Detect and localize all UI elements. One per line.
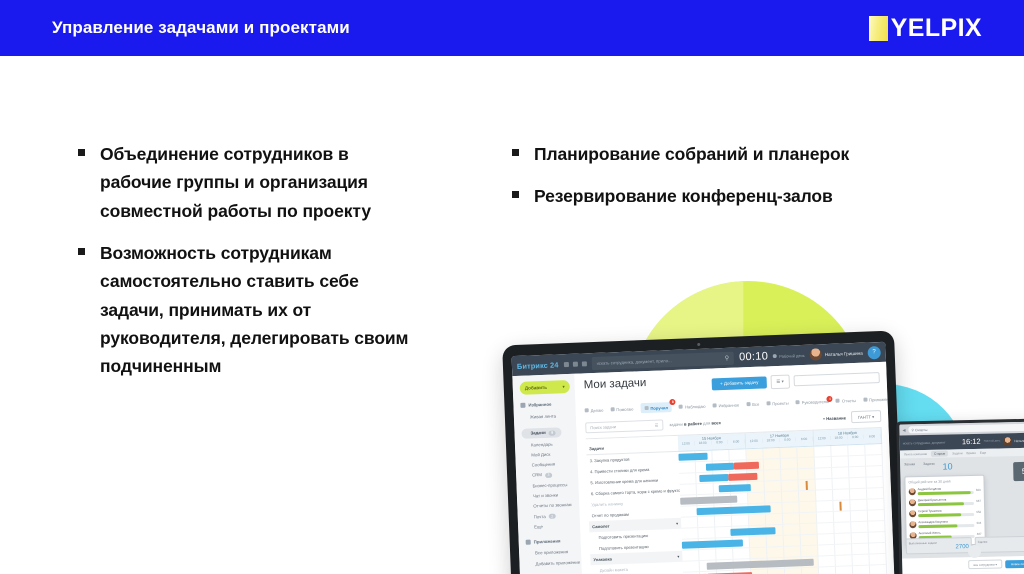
pause-icon[interactable] [773,354,777,358]
topbar-icons [563,361,586,367]
bullet-column-right: Планирование собраний и планерок Резерви… [512,140,932,225]
view-select-label: ГАНТТ [858,414,871,419]
global-search[interactable]: искать сотрудника, документ, прило... ⚲ [591,351,734,369]
rating-row-body: Александра Косухина [918,519,974,528]
pin-icon [520,403,525,408]
rating-bar [918,491,974,495]
tab-label: Наблюдаю [685,403,706,409]
gantt-bar[interactable] [678,453,707,461]
rating-value: 652 [976,510,981,514]
search-icon: ⚲ [911,428,914,432]
rating-row-body: Андрей Богданов [918,486,974,495]
tab-delayu[interactable]: Делаю [585,407,604,413]
rating-subtitle-text: за 30 дней [934,479,951,483]
rating-title-text: Общий рейтинг [908,480,932,485]
sidebar-item-label: Задачи [530,430,545,436]
tab-proekty[interactable]: Проекты [766,400,789,406]
tab-icon [610,407,614,411]
back-icon[interactable]: ◀ [902,427,905,432]
bitrix-logo[interactable]: Битрикс 24 [517,360,559,371]
webcam-icon [697,343,700,346]
gantt-bar[interactable] [680,496,737,505]
bullet-square-icon [78,149,85,156]
stat-big-value: 10 [942,461,952,471]
home-button-icon[interactable] [967,545,980,558]
address-bar-value: Смарты [915,427,928,431]
filter-icon: ☰ [655,422,659,427]
tab-label: Проекты [772,400,789,406]
avatar [810,348,822,360]
gantt-bar[interactable] [682,539,743,548]
list-item[interactable]: Андрей Богданов 820 [909,486,981,496]
tablet-mockup: ◀ ⚲ Смарты искать сотрудника, документ 1… [896,418,1024,574]
mail-icon[interactable] [563,361,568,366]
list-item: Объединение сотрудников в рабочие группы… [78,140,418,225]
address-bar[interactable]: ⚲ Смарты [908,424,1024,434]
worktime-text: Рабочий день [779,352,805,358]
gantt-hour-label: 18:00 [695,441,712,446]
stat-label-calls: Звонки [904,462,915,472]
gantt-task-column: Задачи 3. Закупка продуктов 4. Привести … [586,436,685,574]
tablet-search-placeholder[interactable]: искать сотрудника, документ [903,440,959,445]
tablet-screen: ◀ ⚲ Смарты искать сотрудника, документ 1… [899,422,1024,574]
avatar [909,521,916,528]
avatar [909,510,916,517]
gantt-timeline: 15 Ноября 12:00 18:00 0:00 6:00 [678,428,889,574]
gantt-bar[interactable] [705,463,734,471]
dashboard-cards: Выполненные задачи 2700 Сделки 0 [906,536,1024,555]
bullet-column-left: Объединение сотрудников в рабочие группы… [78,140,418,395]
sidebar-group-apps: Приложения [526,538,576,545]
tablet-user-name: Наталья Гришина [1014,438,1024,443]
tab-icon [679,405,683,409]
status-badge: 4 [827,395,833,401]
bell-icon[interactable] [572,361,577,366]
gantt-bar[interactable] [718,484,751,492]
bullet-text: Резервирование конференц-залов [534,182,833,210]
avatar [909,499,916,506]
tab-label: Отчеты [842,397,856,403]
view-select-gantt[interactable]: ГАНТТ ▾ [851,410,882,423]
gantt-bar[interactable] [728,473,757,481]
slide-root: Управление задачами и проектами YELPIX О… [0,0,1024,574]
tablet-frame: ◀ ⚲ Смарты искать сотрудника, документ 1… [896,418,1024,574]
rating-popup-title: Общий рейтинг за 30 дней [908,479,980,485]
tab-prilozheniya[interactable]: Приложения [863,396,893,402]
list-item[interactable]: Александра Косухина 604 [909,519,981,529]
page-header-row: Мои задачи + Добавить задачу ☰ ▾ [584,368,881,398]
tab-label: Приложения [869,396,893,402]
tab-nablyudayu[interactable]: Наблюдаю [679,403,706,409]
tab-label: Поручил [650,405,668,411]
status-badge: 8 [670,399,676,405]
stat-label-tasks: Задачи [923,462,935,472]
rating-bar [918,502,974,506]
gantt-day-col: 15 Ноября 12:00 18:00 0:00 6:00 [678,433,747,451]
gantt-bar[interactable] [697,505,771,515]
page-title: Управление задачами и проектами [52,18,350,38]
gantt-marker [806,481,808,490]
rating-popup: Общий рейтинг за 30 дней Андрей Богданов… [904,475,985,547]
gantt-day-col: 18 Ноября 12:00 18:00 0:00 6:00 [814,428,883,446]
gantt-lanes [678,444,888,574]
add-task-button[interactable]: + Добавить задачу [712,376,767,390]
filter-mid: для [703,420,710,425]
tab-icon [863,398,867,402]
bitrix-logo-name: Битрикс [517,360,548,370]
badge-count: 3 [545,473,552,478]
sidebar-group-favorites: Избранное [520,401,570,408]
rating-bar [918,524,974,528]
rating-value: 487 [977,532,982,536]
help-icon[interactable]: ? [867,346,880,359]
tablet-timer[interactable]: 16:12 [962,437,981,446]
tab-label: Помогаю [616,406,633,412]
page-actions: + Добавить задачу ☰ ▾ [712,371,880,391]
list-item: Возможность сотрудникам самостоятельно с… [78,239,418,381]
gantt-bar[interactable] [734,462,759,470]
logo-square-icon [869,16,888,41]
rating-value: 687 [976,499,981,503]
laptop-screen: Битрикс 24 искать сотрудника, документ, … [512,342,895,574]
tab-icon [712,403,716,407]
rating-row-body: Сергей Тушканов [918,508,974,517]
tab-label: Делаю [591,407,604,412]
employee-filter-select[interactable]: все сотрудники ▾ [968,559,1002,569]
list-item[interactable]: Сергей Тушканов 652 [909,508,981,518]
gantt-bar[interactable] [730,527,775,536]
slide-header: Управление задачами и проектами YELPIX [0,0,1024,56]
logo-text: YELPIX [891,16,982,41]
tab-vse[interactable]: Все [746,401,759,406]
tab-icon [766,401,770,405]
filter-search-input[interactable]: Поиск задачи ☰ [585,419,663,433]
bullet-square-icon [512,191,519,198]
search-input[interactable] [794,372,880,386]
sidebar-item-label: CRM [532,472,542,477]
card-completed-tasks[interactable]: Выполненные задачи 2700 [906,537,972,554]
sidebar-item-more[interactable]: Еще [525,521,575,533]
tab-vremya[interactable]: Время [966,451,975,455]
rating-row-body: Дмитрий Брильянтов [918,497,974,506]
gantt-hour-label: 18:00 [831,435,848,440]
tab-eshe[interactable]: Еще [980,451,986,455]
card-deals[interactable]: Сделки 0 [975,536,1024,553]
bullet-square-icon [78,248,85,255]
gantt-hour-label: 0:00 [779,437,796,442]
gantt-hour-label: 6:00 [864,434,881,439]
group-label: Упаковка [593,556,612,562]
tab-label: Руководителю [802,399,829,405]
badge-count: 2 [549,514,556,519]
user-menu[interactable]: Наталья Гришина [810,347,863,361]
rating-value: 820 [976,488,981,492]
list-item: Планирование собраний и планерок [512,140,932,168]
gantt-hour-label: 6:00 [796,437,813,442]
filter-who: всех [711,420,721,425]
sidebar-item-zhivaya-lenta[interactable]: Живая лента [521,410,571,422]
gantt-hour-label: 0:00 [847,435,864,440]
sidebar-group-label: Избранное [528,402,551,408]
badge-count: 9 [549,430,556,435]
apps-icon [526,539,531,544]
gauge-widget: 55 [1013,462,1024,482]
laptop-mockup: Битрикс 24 искать сотрудника, документ, … [502,330,903,574]
list-item[interactable]: Дмитрий Брильянтов 687 [909,497,981,507]
sidebar-item-label: Почта [534,514,546,519]
search-placeholder: искать сотрудника, документ, прило... [596,358,671,366]
worktime-timer[interactable]: 00:10 [739,350,768,363]
tab-label: Избранное [718,402,739,408]
tab-label: Все [752,401,759,406]
search-icon: ⚲ [725,354,730,361]
dashboard-stats: Звонки Задачи 10 [904,460,1024,473]
gantt-bar[interactable] [700,474,729,482]
rating-bar-fill [918,491,971,495]
bitrix-logo-accent: 24 [550,360,559,369]
tab-icon [585,408,589,412]
avatar [1003,437,1011,445]
gantt-hour-label: 12:00 [746,439,763,444]
card-value: 2700 [909,544,969,551]
tab-rukovoditelyu[interactable]: Руководителю4 [796,399,829,405]
tab-icon [746,402,750,406]
chevron-icon: ▾ [677,554,679,559]
filter-prefix: задачи [669,421,683,427]
chevron-down-icon: ▾ [562,384,565,390]
tab-zadachi[interactable]: Задачи [952,451,962,455]
gantt-marker [839,502,841,511]
group-label: Самолет [592,524,610,530]
sidebar-item-tasks[interactable]: Задачи9 [521,427,562,439]
bitrix-main: Мои задачи + Добавить задачу ☰ ▾ Делаю П… [574,362,894,574]
worktime-label: Рабочий день [773,352,805,358]
gantt-controls: ▾ Название ГАНТТ ▾ [823,410,882,424]
bitrix-sidebar: Добавить ▾ Избранное Живая лента Задачи9… [512,374,582,574]
rating-bar-fill [918,513,961,517]
gantt-hour-label: 6:00 [728,439,745,444]
add-task-label: Добавить задачу [724,380,759,386]
sidebar-item-add-app[interactable]: Добавить приложение [526,557,576,569]
brand-logo: YELPIX [869,16,982,41]
tab-otchety[interactable]: Отчеты [836,397,856,403]
avatar [909,488,916,495]
gantt-bars-body [678,444,888,574]
flag-icon [836,399,840,403]
bullet-square-icon [512,149,519,156]
tab-starye[interactable]: Старые [931,451,948,457]
group-by-value: Название [826,415,846,421]
tablet-timer-note: Рабочий день [984,439,1001,442]
grid-icon[interactable] [581,361,586,366]
filter-scope: в работе [684,420,702,426]
tab-lenta[interactable]: Лента компании [904,452,927,456]
laptop-body: Битрикс 24 искать сотрудника, документ, … [502,330,903,574]
bitrix-body: Добавить ▾ Избранное Живая лента Задачи9… [512,362,894,574]
gantt-day-col: 17 Ноября 12:00 18:00 0:00 6:00 [746,431,815,449]
add-button[interactable]: Добавить ▾ [520,380,570,395]
page-heading: Мои задачи [584,377,647,391]
bullet-text: Планирование собраний и планерок [534,140,849,168]
rating-bar [918,513,974,517]
gantt-hour-label: 18:00 [763,438,780,443]
filter-placeholder: Поиск задачи [590,424,616,430]
new-message-button[interactable]: Новое сообщение [1005,559,1024,568]
employee-filter-label: все сотрудники [973,562,994,566]
gantt-hour-label: 12:00 [678,441,695,446]
tab-icon [644,406,648,410]
view-mode-select[interactable]: ☰ ▾ [770,374,790,389]
rating-value: 604 [977,521,982,525]
list-item: Резервирование конференц-залов [512,182,932,210]
gantt-hour-label: 12:00 [814,436,831,441]
tab-izbrannoe[interactable]: Избранное [712,402,739,408]
add-button-label: Добавить [525,385,547,391]
rating-bar-fill [918,502,964,506]
tab-poruchil[interactable]: Поручил8 [640,402,672,413]
group-by-label[interactable]: ▾ Название [823,415,846,421]
chevron-icon: ▾ [676,521,678,526]
rating-bar-fill [918,524,957,528]
gantt-chart: Задачи 3. Закупка продуктов 4. Привести … [586,427,889,574]
tab-icon [796,400,800,404]
user-name: Наталья Гришина [825,350,863,356]
bullet-text: Возможность сотрудникам самостоятельно с… [100,239,418,381]
tab-pomogayu[interactable]: Помогаю [610,406,633,412]
tablet-dashboard: Звонки Задачи 10 55 Общий рейтинг за 30 … [900,456,1024,559]
filter-summary[interactable]: задачи в работе для всех [669,420,721,427]
sidebar-group-label: Приложения [534,538,561,544]
bullet-text: Объединение сотрудников в рабочие группы… [100,140,418,225]
gantt-hour-label: 0:00 [711,440,728,445]
